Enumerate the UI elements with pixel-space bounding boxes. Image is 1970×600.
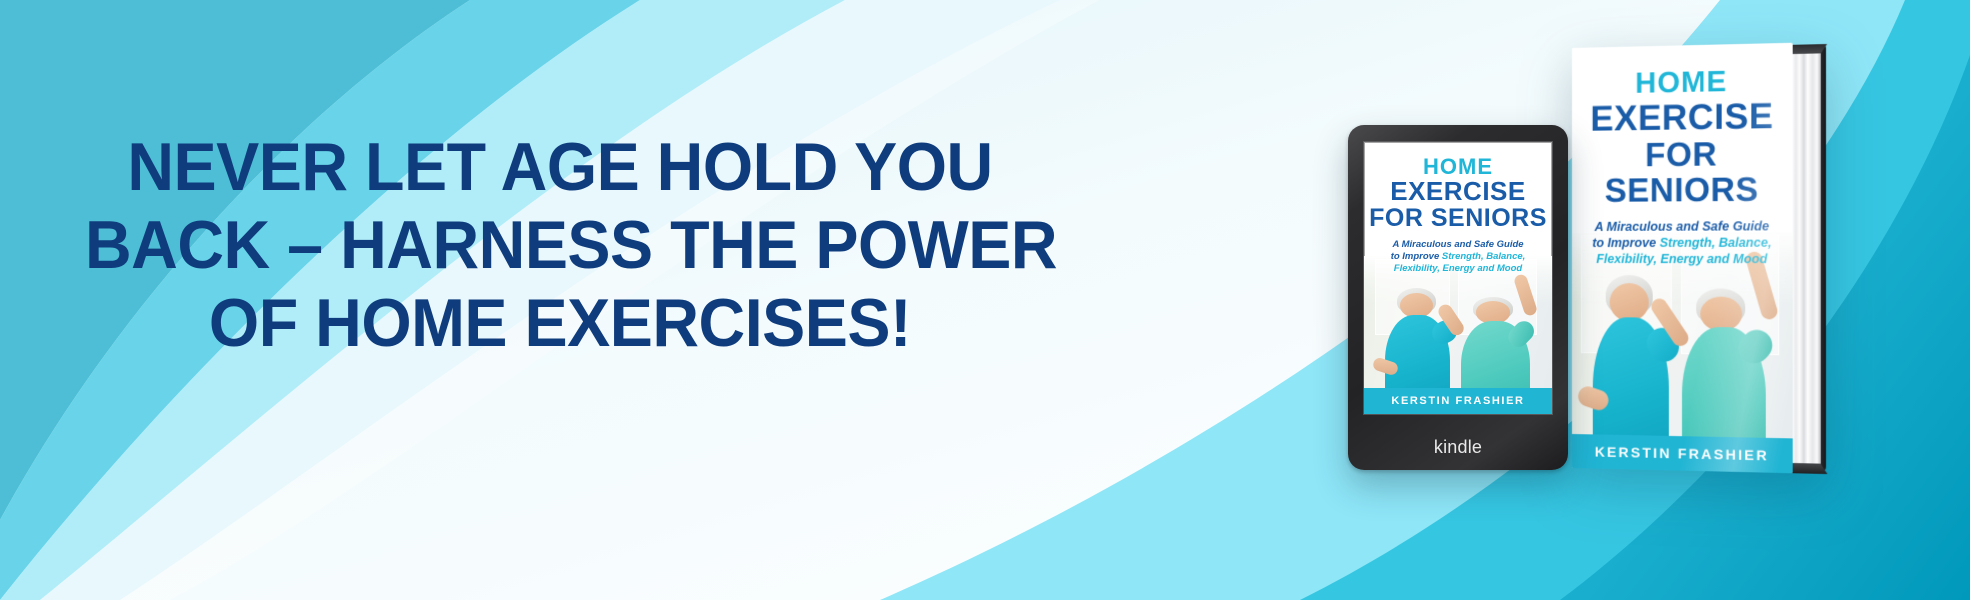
book-author-name: KERSTIN FRASHIER xyxy=(1595,443,1769,463)
cover-subtitle-line-3: Flexibility, Energy and Mood xyxy=(1394,263,1522,274)
book-subtitle-line-1: A Miraculous and Safe Guide xyxy=(1595,219,1770,234)
cover-author-name-small: KERSTIN FRASHIER xyxy=(1391,395,1524,407)
cover-title-for-seniors: FOR SENIORS xyxy=(1364,205,1552,231)
cover-subtitle-line-2b: Strength, Balance, xyxy=(1442,251,1525,262)
book-title-for-seniors: FOR SENIORS xyxy=(1572,135,1793,208)
book-subtitle-line-2a: to Improve xyxy=(1592,236,1659,250)
headline: NEVER LET AGE HOLD YOU BACK – HARNESS TH… xyxy=(85,128,1035,362)
kindle-device[interactable]: HOME EXERCISE FOR SENIORS A Miraculous a… xyxy=(1348,125,1568,470)
cover-title-block-large: HOME EXERCISE FOR SENIORS A Miraculous a… xyxy=(1572,65,1793,267)
cover-title-home: HOME xyxy=(1364,155,1552,178)
kindle-brand-logo: kindle xyxy=(1348,437,1568,458)
book-subtitle-large: A Miraculous and Safe Guide to Improve S… xyxy=(1572,218,1793,267)
headline-line-2: BACK – HARNESS THE POWER xyxy=(85,206,1035,284)
kindle-body: HOME EXERCISE FOR SENIORS A Miraculous a… xyxy=(1348,125,1568,470)
cover-title-exercise: EXERCISE xyxy=(1364,178,1552,205)
cover-title-block-small: HOME EXERCISE FOR SENIORS A Miraculous a… xyxy=(1364,155,1552,275)
book-subtitle-line-3: Flexibility, Energy and Mood xyxy=(1596,252,1767,266)
headline-line-3: OF HOME EXERCISES! xyxy=(85,284,1035,362)
cover-subtitle-line-1: A Miraculous and Safe Guide xyxy=(1392,239,1523,250)
kindle-screen-cover: HOME EXERCISE FOR SENIORS A Miraculous a… xyxy=(1364,142,1552,414)
book-3d: HOME EXERCISE FOR SENIORS A Miraculous a… xyxy=(1572,42,1831,474)
book-page-block xyxy=(1790,47,1821,469)
book-title-exercise: EXERCISE xyxy=(1572,97,1793,138)
book-author-band: KERSTIN FRASHIER xyxy=(1572,434,1793,473)
cover-subtitle-line-2a: to Improve xyxy=(1391,251,1442,262)
book-subtitle-line-2b: Strength, Balance, xyxy=(1660,236,1772,250)
book-front-cover: HOME EXERCISE FOR SENIORS A Miraculous a… xyxy=(1572,43,1793,473)
promo-banner: NEVER LET AGE HOLD YOU BACK – HARNESS TH… xyxy=(0,0,1970,600)
cover-subtitle-small: A Miraculous and Safe Guide to Improve S… xyxy=(1364,239,1552,275)
cover-author-band-small: KERSTIN FRASHIER xyxy=(1364,388,1552,414)
hardcover-book[interactable]: HOME EXERCISE FOR SENIORS A Miraculous a… xyxy=(1572,48,1827,468)
headline-line-1: NEVER LET AGE HOLD YOU xyxy=(85,128,1035,206)
